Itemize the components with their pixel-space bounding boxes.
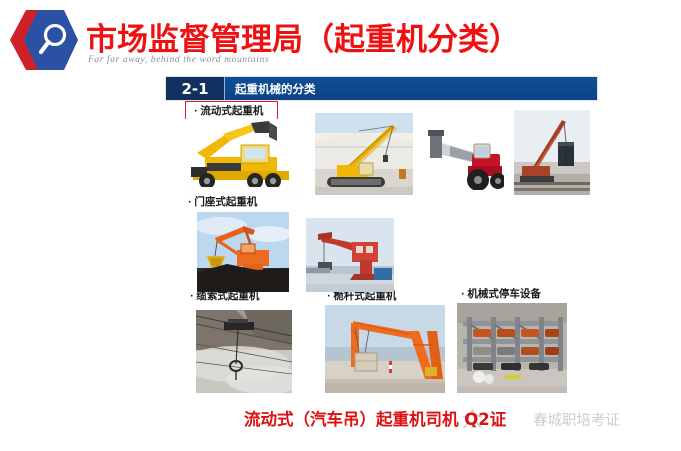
photo-mechanical-parking xyxy=(457,303,567,393)
bullet-mobile-crane: ·流动式起重机 xyxy=(185,101,278,121)
hexagon-magnifier-logo xyxy=(8,8,80,72)
section-header-bar: 2-1 起重机械的分类 xyxy=(166,77,597,100)
photo-mast-crane xyxy=(325,305,445,393)
photo-portal-crane-orange xyxy=(197,212,289,292)
bullet-label: 门座式起重机 xyxy=(194,196,257,208)
page-subtitle: Far far away, behind the word mountains xyxy=(88,55,269,65)
bullet-marker: · xyxy=(327,292,330,302)
slide-canvas: 市场监督管理局（起重机分类） Far far away, behind the … xyxy=(0,0,681,451)
bullet-marker: · xyxy=(194,107,197,117)
footer-headline: 流动式（汽车吊）起重机司机 Q2证 xyxy=(244,406,506,430)
bullet-marker: · xyxy=(190,292,193,302)
bullet-label: 机械式停车设备 xyxy=(467,288,541,300)
bullet-marker: · xyxy=(461,290,464,300)
photo-crawler-crane xyxy=(315,113,413,195)
photo-cable-crane xyxy=(196,310,292,393)
photo-portal-crane-red xyxy=(306,218,394,292)
watermark-text: 春城职培考证 xyxy=(533,409,620,430)
section-title: 起重机械的分类 xyxy=(224,77,597,100)
photo-railway-crane xyxy=(514,110,590,195)
bullet-portal-crane: ·门座式起重机 xyxy=(188,194,257,209)
section-number: 2-1 xyxy=(166,77,224,100)
photo-reach-stacker xyxy=(428,122,504,195)
photo-truck-crane xyxy=(183,119,301,195)
page-title: 市场监督管理局（起重机分类） xyxy=(86,14,520,59)
bullet-label: 流动式起重机 xyxy=(200,105,263,117)
bullet-parking-equipment: ·机械式停车设备 xyxy=(461,286,541,301)
bullet-marker: · xyxy=(188,198,191,208)
